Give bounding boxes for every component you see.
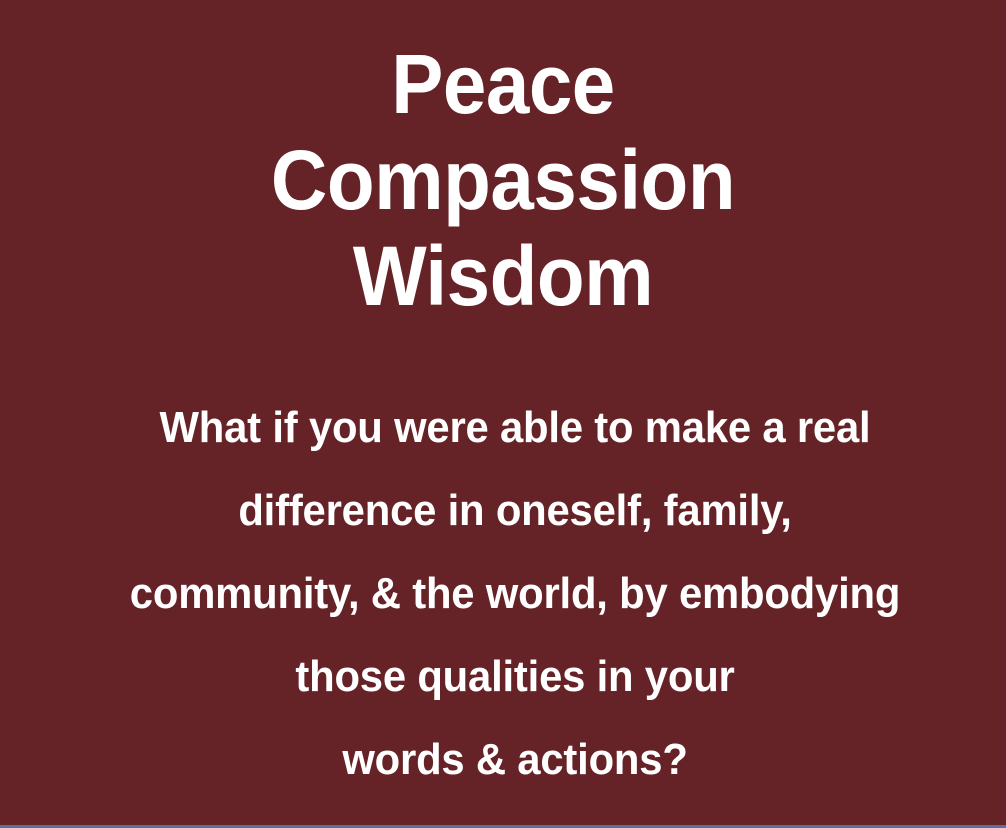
heading-line-1: Peace [35, 36, 971, 132]
slide-canvas: Peace Compassion Wisdom What if you were… [0, 0, 1006, 828]
body-line-2: difference in oneself, family, [49, 469, 982, 552]
heading-line-2: Compassion [35, 132, 971, 228]
heading-line-3: Wisdom [35, 228, 971, 324]
slide-heading: Peace Compassion Wisdom [0, 36, 1006, 324]
slide-body-text: What if you were able to make a real dif… [0, 386, 1006, 801]
body-line-1: What if you were able to make a real [49, 386, 982, 469]
body-line-4: those qualities in your [49, 635, 982, 718]
body-line-3: community, & the world, by embodying [49, 552, 982, 635]
body-line-5: words & actions? [49, 718, 982, 801]
